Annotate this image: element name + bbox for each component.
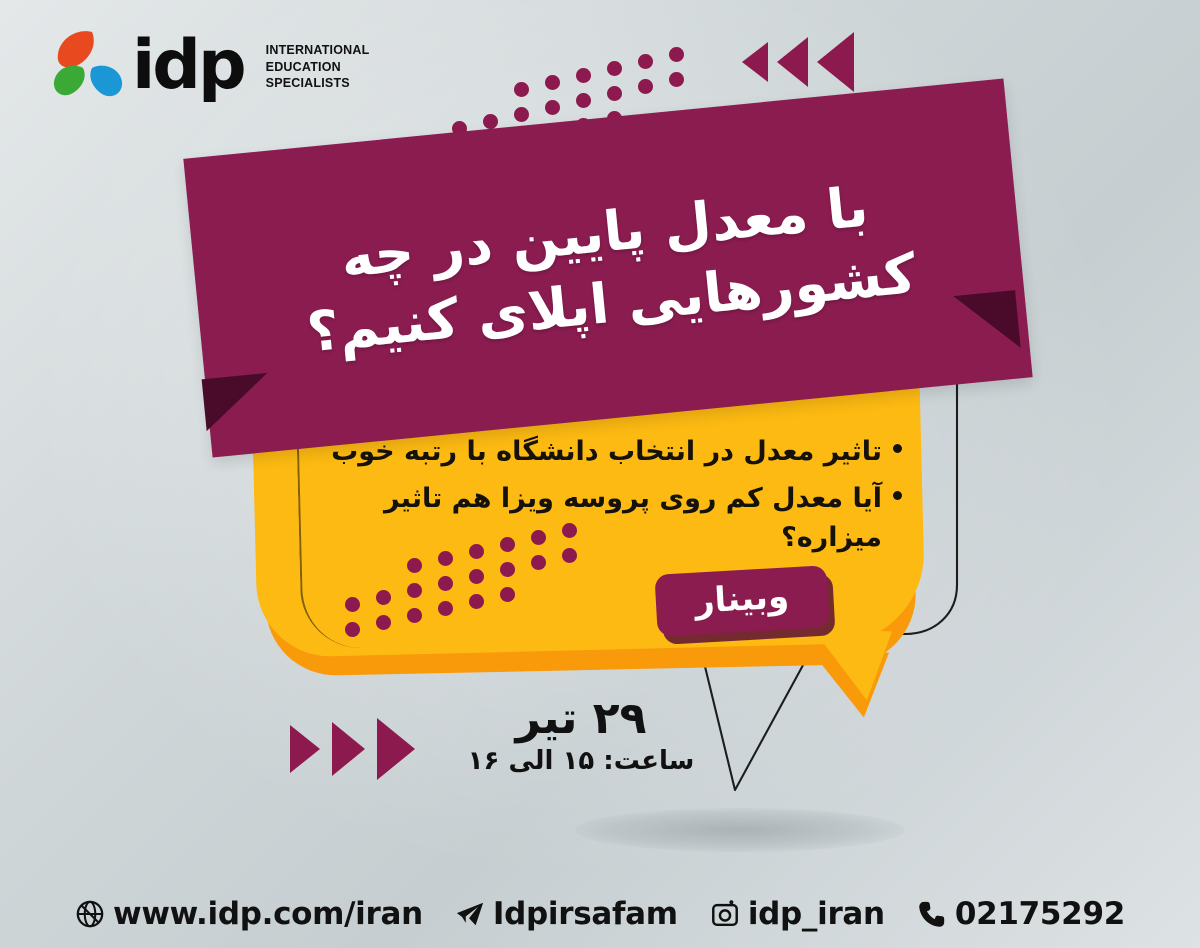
list-item-label: تاثیر معدل در انتخاب دانشگاه با رتبه خوب bbox=[331, 432, 882, 471]
decorative-dot bbox=[345, 622, 360, 637]
triangle-left-icon bbox=[817, 32, 854, 92]
footer-contacts: www.idp.com/iran Idpirsafam idp_iran 021… bbox=[0, 896, 1200, 932]
decorative-dot bbox=[438, 601, 453, 616]
phone-icon bbox=[917, 899, 947, 929]
contact-phone[interactable]: 02175292 bbox=[917, 896, 1125, 932]
bullet-dot-icon bbox=[893, 444, 902, 453]
title-banner: با معدل پایین در چه کشورهایی اپلای کنیم؟ bbox=[196, 118, 1020, 418]
contact-website[interactable]: www.idp.com/iran bbox=[75, 896, 423, 932]
webinar-badge-label: وبینار bbox=[694, 579, 790, 622]
decorative-dot bbox=[669, 72, 684, 87]
contact-instagram[interactable]: idp_iran bbox=[710, 896, 885, 932]
schedule-block: ۲۹ تیر ساعت: ۱۵ الی ۱۶ bbox=[466, 694, 696, 779]
decorative-triangles-top bbox=[742, 32, 854, 92]
schedule-time: ساعت: ۱۵ الی ۱۶ bbox=[466, 745, 696, 779]
decorative-dot bbox=[576, 68, 591, 83]
decorative-triangles-bottom bbox=[290, 718, 415, 780]
decorative-dot bbox=[607, 61, 622, 76]
triangle-right-icon bbox=[332, 722, 365, 776]
list-item: تاثیر معدل در انتخاب دانشگاه با رتبه خوب bbox=[282, 432, 902, 471]
bullet-dot-icon bbox=[893, 491, 902, 500]
decorative-dot bbox=[545, 75, 560, 90]
triangle-left-icon bbox=[777, 37, 808, 87]
decorative-dot bbox=[407, 608, 422, 623]
bubble-ground-shadow bbox=[575, 808, 905, 852]
decorative-dot bbox=[376, 590, 391, 605]
webinar-poster: idp INTERNATIONAL EDUCATION SPECIALISTS … bbox=[0, 0, 1200, 948]
decorative-dot bbox=[345, 597, 360, 612]
decorative-dot bbox=[407, 583, 422, 598]
decorative-dot bbox=[638, 54, 653, 69]
globe-icon bbox=[75, 899, 105, 929]
contact-telegram[interactable]: Idpirsafam bbox=[455, 896, 678, 932]
decorative-dot bbox=[438, 576, 453, 591]
decorative-dot bbox=[469, 594, 484, 609]
idp-tagline-line-2: EDUCATION bbox=[266, 59, 370, 76]
decorative-dot bbox=[545, 100, 560, 115]
decorative-dot bbox=[607, 86, 622, 101]
decorative-dot bbox=[514, 82, 529, 97]
triangle-left-icon bbox=[742, 42, 768, 82]
idp-wordmark: idp bbox=[132, 39, 244, 92]
idp-logo[interactable]: idp INTERNATIONAL EDUCATION SPECIALISTS bbox=[52, 28, 369, 100]
idp-tagline-line-3: SPECIALISTS bbox=[266, 75, 370, 92]
dot-pattern-bottom bbox=[345, 572, 605, 642]
triangle-right-icon bbox=[290, 725, 320, 773]
contact-website-label: www.idp.com/iran bbox=[113, 896, 423, 932]
contact-telegram-label: Idpirsafam bbox=[493, 896, 678, 932]
schedule-date: ۲۹ تیر bbox=[466, 694, 696, 743]
decorative-dot bbox=[500, 587, 515, 602]
topic-list: تاثیر معدل در انتخاب دانشگاه با رتبه خوب… bbox=[282, 432, 902, 565]
title-banner-text-wrap: با معدل پایین در چه کشورهایی اپلای کنیم؟ bbox=[183, 79, 1032, 458]
instagram-icon bbox=[710, 899, 740, 929]
idp-tagline: INTERNATIONAL EDUCATION SPECIALISTS bbox=[266, 42, 370, 92]
decorative-dot bbox=[576, 93, 591, 108]
decorative-dot bbox=[376, 615, 391, 630]
list-item: آیا معدل کم روی پروسه ویزا هم تاثیر میزا… bbox=[282, 479, 902, 557]
idp-tagline-line-1: INTERNATIONAL bbox=[266, 42, 370, 59]
triangle-right-icon bbox=[377, 718, 415, 780]
webinar-badge: وبینار bbox=[654, 565, 829, 637]
decorative-dot bbox=[469, 569, 484, 584]
list-item-label: آیا معدل کم روی پروسه ویزا هم تاثیر میزا… bbox=[282, 479, 882, 557]
telegram-icon bbox=[455, 899, 485, 929]
contact-instagram-label: idp_iran bbox=[748, 896, 885, 932]
idp-leaf-logo-icon bbox=[52, 28, 126, 100]
decorative-dot bbox=[638, 79, 653, 94]
decorative-dot bbox=[669, 47, 684, 62]
contact-phone-label: 02175292 bbox=[955, 896, 1125, 932]
page-title: با معدل پایین در چه کشورهایی اپلای کنیم؟ bbox=[191, 157, 1025, 380]
